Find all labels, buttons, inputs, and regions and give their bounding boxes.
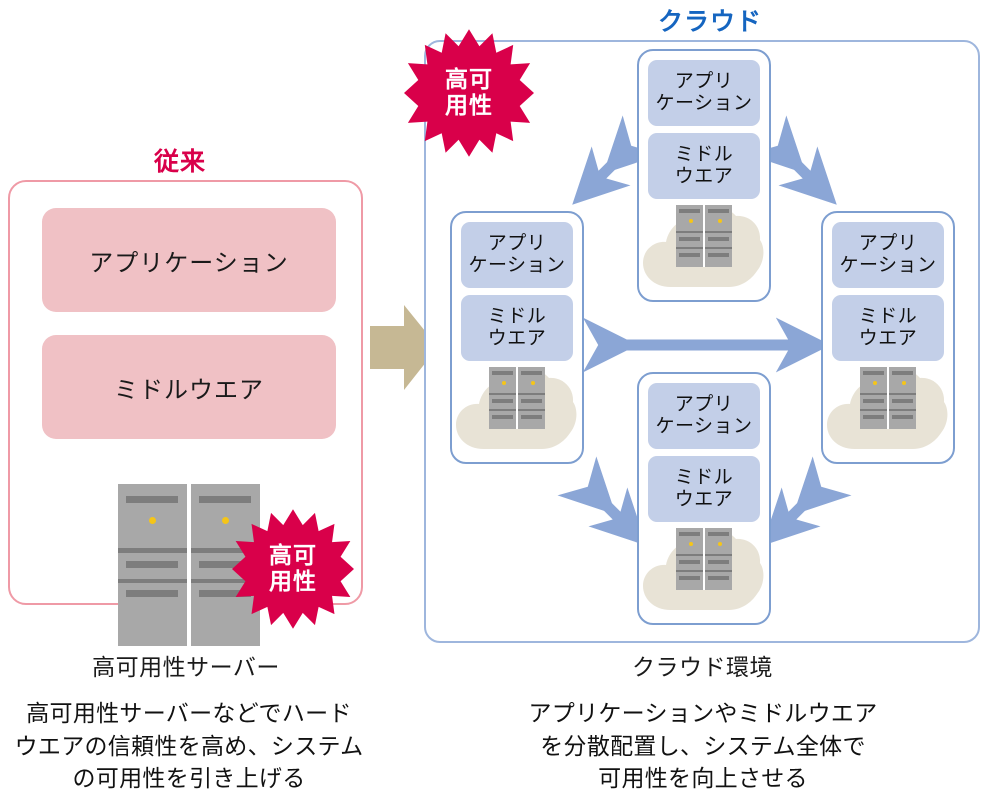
cloud-node-middleware-label: ミドルウエア — [675, 467, 734, 511]
cloud-node-application-card: アプリケーション — [832, 222, 944, 288]
legacy-description: 高可用性サーバーなどでハード ウエアの信頼性を高め、システム の可用性を引き上げ… — [0, 697, 378, 795]
cloud-node-application-card: アプリケーション — [648, 60, 760, 126]
cloud-caption: クラウド環境 — [430, 648, 975, 682]
cloud-node-middleware-label: ミドルウエア — [488, 306, 547, 350]
cloud-node-application-card: アプリケーション — [461, 222, 573, 288]
cloud-server-group — [643, 524, 765, 620]
cloud-description-line3: 可用性を向上させる — [428, 762, 978, 795]
legacy-description-line2: ウエアの信頼性を高め、システム — [0, 730, 378, 763]
legacy-badge-line2: 用性 — [269, 569, 317, 595]
cloud-node-middleware-label: ミドルウエア — [675, 144, 734, 188]
legacy-description-line1: 高可用性サーバーなどでハード — [0, 697, 378, 730]
cloud-node-right: アプリケーション ミドルウエア — [821, 211, 955, 464]
cloud-node-application-card: アプリケーション — [648, 383, 760, 449]
cloud-node-application-label: アプリケーション — [655, 71, 752, 115]
server-rack-icon — [860, 367, 916, 429]
cloud-server-group — [827, 363, 949, 459]
server-rack-icon — [676, 205, 732, 267]
legacy-description-line3: の可用性を引き上げる — [0, 762, 378, 795]
cloud-node-application-label: アプリケーション — [839, 233, 936, 277]
cloud-server-group — [643, 201, 765, 297]
arrow-top-right — [784, 152, 815, 183]
server-rack-icon — [676, 528, 732, 590]
cloud-badge-line2: 用性 — [445, 93, 493, 119]
cloud-node-middleware-card: ミドルウエア — [648, 456, 760, 522]
cloud-description-line2: を分散配置し、システム全体で — [428, 730, 978, 763]
legacy-badge-text: 高可 用性 — [269, 543, 317, 595]
cloud-node-bottom: アプリケーション ミドルウエア — [637, 372, 771, 625]
arrow-bottom-right — [784, 493, 815, 524]
arrow-bottom-left — [594, 493, 625, 524]
legacy-caption: 高可用性サーバー — [0, 648, 372, 682]
cloud-badge-text: 高可 用性 — [445, 67, 493, 119]
cloud-availability-badge: 高可 用性 — [400, 28, 538, 158]
cloud-description-line1: アプリケーションやミドルウエア — [428, 697, 978, 730]
cloud-node-middleware-label: ミドルウエア — [859, 306, 918, 350]
cloud-node-middleware-card: ミドルウエア — [832, 295, 944, 361]
cloud-badge-line1: 高可 — [445, 67, 493, 93]
cloud-node-application-label: アプリケーション — [655, 394, 752, 438]
cloud-node-application-label: アプリケーション — [468, 233, 565, 277]
cloud-node-middleware-card: ミドルウエア — [648, 133, 760, 199]
cloud-server-group — [456, 363, 578, 459]
server-rack-icon — [489, 367, 545, 429]
arrow-top-left — [594, 152, 625, 183]
cloud-node-top: アプリケーション ミドルウエア — [637, 49, 771, 302]
cloud-node-left: アプリケーション ミドルウエア — [450, 211, 584, 464]
diagram-canvas: 従来 アプリケーション ミドルウエア 高可 用性 クラウド — [0, 0, 1000, 809]
legacy-badge-line1: 高可 — [269, 543, 317, 569]
cloud-node-middleware-card: ミドルウエア — [461, 295, 573, 361]
cloud-description: アプリケーションやミドルウエア を分散配置し、システム全体で 可用性を向上させる — [428, 697, 978, 795]
